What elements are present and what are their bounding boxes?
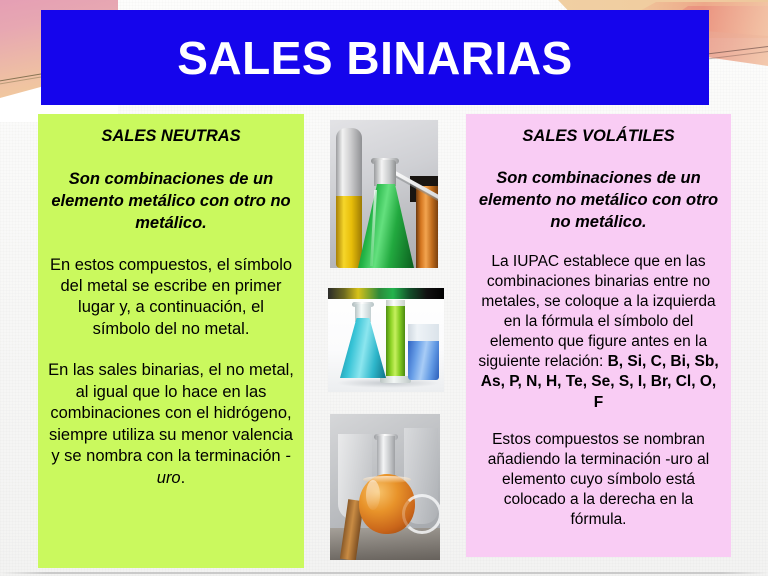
photo3-glass-ring [402, 494, 440, 534]
left-panel-paragraph-2-text: En las sales binarias, el no metal, al i… [48, 361, 294, 465]
left-panel-lead: Son combinaciones de un elemento metálic… [47, 169, 295, 235]
panel-sales-neutras: SALES NEUTRAS Son combinaciones de un el… [38, 114, 304, 568]
photo2-graduated-cylinder-green [386, 306, 405, 380]
page-title: SALES BINARIAS [177, 35, 572, 81]
left-panel-paragraph-2: En las sales binarias, el no metal, al i… [47, 360, 295, 489]
slide-canvas: SALES BINARIAS SALES NEUTRAS Son combina… [0, 0, 768, 576]
right-panel-paragraph-1: La IUPAC establece que en las combinacio… [476, 252, 721, 413]
left-panel-heading: SALES NEUTRAS [47, 127, 295, 147]
right-panel-heading: SALES VOLÁTILES [476, 127, 721, 147]
photo-lab-glassware-yellow-green-orange [330, 120, 438, 268]
photo1-test-tube-yellow-liquid [336, 196, 362, 268]
photo-round-bottom-flask-amber [330, 414, 440, 560]
bottom-rule [0, 572, 768, 574]
photo1-flask-neck [374, 160, 396, 186]
panel-sales-volatiles: SALES VOLÁTILES Son combinaciones de un … [466, 114, 731, 557]
left-panel-paragraph-1: En estos compuestos, el símbolo del meta… [47, 255, 295, 341]
photo3-flask-highlight [366, 480, 380, 510]
right-panel-lead: Son combinaciones de un elemento no metá… [476, 168, 721, 234]
photo-lab-glassware-cyan-green-blue [328, 288, 444, 392]
left-panel-paragraph-2-period: . [181, 469, 186, 487]
right-panel-paragraph-2: Estos compuestos se nombran añadiendo la… [476, 430, 721, 531]
title-bar: SALES BINARIAS [41, 10, 709, 105]
photo2-beaker-blue-liquid [408, 341, 439, 380]
photo2-top-color-strip [328, 288, 444, 299]
